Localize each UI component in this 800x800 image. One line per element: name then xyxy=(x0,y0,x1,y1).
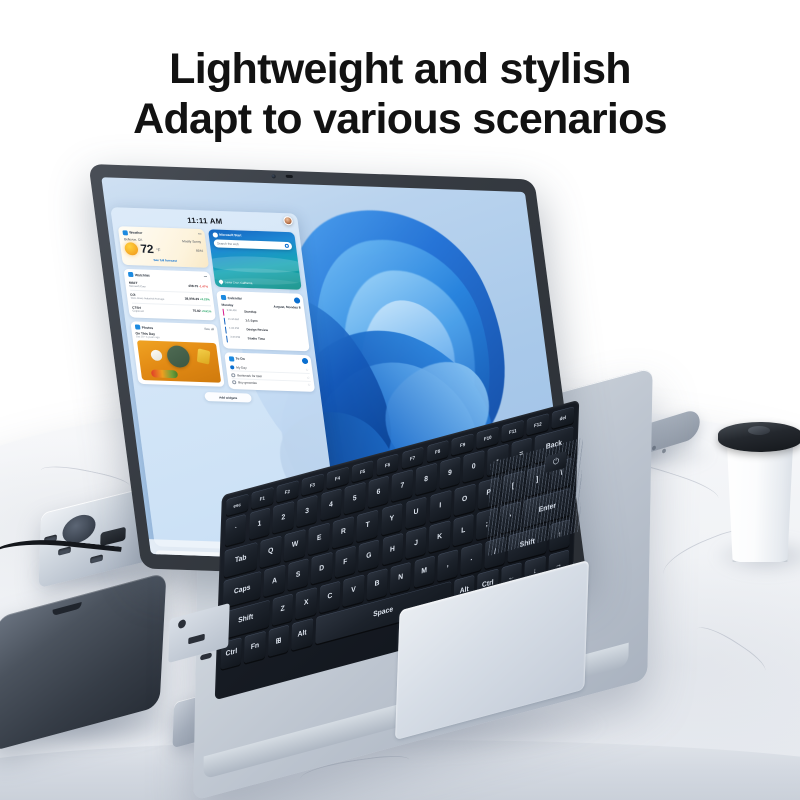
key-d[interactable]: D xyxy=(311,552,332,585)
calendar-day-label: Monday xyxy=(221,302,233,306)
todo-checkbox[interactable] xyxy=(229,365,234,369)
stock-name: Cognizant xyxy=(132,309,144,312)
add-widgets-button[interactable]: Add widgets xyxy=(204,392,252,403)
key-f5[interactable]: F5 xyxy=(351,460,374,483)
key-c[interactable]: C xyxy=(319,580,340,613)
calendar-event[interactable]: 1:00 PM Design Review xyxy=(224,326,304,336)
key-5[interactable]: 5 xyxy=(344,482,366,515)
stock-change: +0.23% xyxy=(200,297,210,301)
microphone-icon xyxy=(286,175,293,178)
key-l[interactable]: L xyxy=(452,514,473,547)
calendar-widget[interactable]: Calendar Monday August, Monday 8 9:00 A xyxy=(216,291,310,351)
key-z[interactable]: Z xyxy=(272,593,293,626)
weather-icon xyxy=(122,230,128,235)
key-u[interactable]: U xyxy=(405,496,427,529)
key-7[interactable]: 7 xyxy=(391,469,413,502)
stock-change: +0.61% xyxy=(201,309,211,313)
key-9[interactable]: 9 xyxy=(439,457,461,490)
watchlist-widget-title: Watchlist xyxy=(135,273,150,277)
todo-item[interactable]: Buy groceries ☆ xyxy=(231,379,311,389)
event-time: 11:30 AM xyxy=(228,318,243,322)
event-title: Standup xyxy=(244,309,257,313)
weather-more-button[interactable]: ••• xyxy=(198,232,202,236)
key-backtick[interactable]: ` xyxy=(225,514,247,547)
event-color-bar xyxy=(224,326,227,333)
weather-condition: Mostly Sunny xyxy=(182,239,201,244)
news-source-icon xyxy=(160,558,163,561)
key-e[interactable]: E xyxy=(308,522,330,555)
microsoft-start-icon xyxy=(212,232,217,237)
key-f12[interactable]: F12 xyxy=(527,413,550,436)
event-time: 9:00 AM xyxy=(227,308,242,312)
key-comma[interactable]: , xyxy=(437,549,458,582)
calendar-account-avatar[interactable] xyxy=(293,297,300,303)
weather-widget[interactable]: Weather ••• Bellevue, CA Mostly Sunny 72 xyxy=(118,226,209,267)
search-brand-label: Microsoft Start xyxy=(219,233,242,238)
todo-widget[interactable]: To Do My Day ☆ xyxy=(224,352,315,392)
todo-widget-title: To Do xyxy=(235,357,245,361)
key-j[interactable]: J xyxy=(405,527,426,560)
key-a[interactable]: A xyxy=(264,565,285,598)
watchlist-widget[interactable]: Watchlist ••• MSFT Microsoft Corp xyxy=(123,268,216,320)
key-f1[interactable]: F1 xyxy=(251,487,274,510)
key-windows[interactable]: ⊞ xyxy=(268,624,289,657)
calendar-event[interactable]: 11:30 AM 1:1 Sync xyxy=(223,317,303,327)
weather-unit: °F xyxy=(156,247,161,252)
key-n[interactable]: N xyxy=(390,561,411,594)
photo-plate-shape xyxy=(165,345,190,368)
stock-name: Dow Jones Industrial Average xyxy=(131,297,165,301)
weather-location: Bellevue, CA xyxy=(124,237,143,242)
key-h[interactable]: H xyxy=(382,533,403,566)
photos-widget[interactable]: Photos See all On This Day Oct 28 • 4 ye… xyxy=(130,321,224,386)
key-2[interactable]: 2 xyxy=(272,501,294,534)
key-t[interactable]: T xyxy=(357,509,379,542)
photo-chip-shape xyxy=(197,348,210,364)
product-marketing-image: Lightweight and stylish Adapt to various… xyxy=(0,0,800,800)
photo-thumbnail[interactable] xyxy=(136,340,220,382)
key-f[interactable]: F xyxy=(335,546,356,579)
photos-widget-title: Photos xyxy=(141,325,153,329)
star-icon[interactable]: ☆ xyxy=(307,383,311,387)
key-f11[interactable]: F11 xyxy=(502,420,525,443)
key-w[interactable]: W xyxy=(284,529,306,562)
key-f7[interactable]: F7 xyxy=(401,447,424,470)
key-8[interactable]: 8 xyxy=(415,463,437,496)
search-widget[interactable]: Microsoft Start Search the web Santa Cru… xyxy=(208,229,302,290)
weather-hi-lo: 82/61 xyxy=(196,248,204,253)
photos-icon xyxy=(134,324,140,329)
news-source-label: MSN Today • 2 hrs ago xyxy=(164,558,189,562)
weather-forecast-link[interactable]: See full forecast xyxy=(125,257,205,264)
calendar-date-label: August, Monday 8 xyxy=(273,304,301,309)
key-alt-left[interactable]: Alt xyxy=(291,618,312,651)
todo-label: My Day xyxy=(236,365,247,369)
key-0[interactable]: 0 xyxy=(463,450,485,483)
headline-line-1: Lightweight and stylish xyxy=(169,45,631,93)
key-f10[interactable]: F10 xyxy=(476,426,499,449)
stock-change: -1.47% xyxy=(199,284,209,288)
search-icon[interactable] xyxy=(285,244,290,248)
star-icon[interactable]: ☆ xyxy=(305,368,309,372)
calendar-widget-title: Calendar xyxy=(227,296,242,300)
todo-checkbox[interactable] xyxy=(230,373,235,377)
star-icon[interactable]: ☆ xyxy=(306,375,310,379)
weather-widget-title: Weather xyxy=(129,231,143,235)
key-r[interactable]: R xyxy=(332,516,354,549)
key-1[interactable]: 1 xyxy=(249,508,271,541)
calendar-event[interactable]: 9:00 AM Standup xyxy=(222,308,302,318)
calendar-icon xyxy=(220,295,226,300)
key-q[interactable]: Q xyxy=(260,535,282,568)
watchlist-more-button[interactable]: ••• xyxy=(203,274,207,278)
stock-price: 38,996.39 xyxy=(184,296,199,300)
todo-label: Bookmark for later xyxy=(237,373,262,378)
todo-account-avatar[interactable] xyxy=(301,358,308,364)
key-fn[interactable]: Fn xyxy=(244,631,265,664)
widgets-grid: Weather ••• Bellevue, CA Mostly Sunny 72 xyxy=(118,226,315,392)
key-b[interactable]: B xyxy=(366,568,387,601)
key-k[interactable]: K xyxy=(429,520,450,553)
key-esc[interactable]: esc xyxy=(226,494,249,517)
location-pin-icon xyxy=(218,280,223,285)
watchlist-row[interactable]: CTSH Cognizant 75.82 +0.61% xyxy=(132,304,212,317)
key-f6[interactable]: F6 xyxy=(376,453,399,476)
weather-temperature: 72 xyxy=(140,243,154,255)
event-color-bar xyxy=(222,308,225,315)
event-color-bar xyxy=(223,317,226,324)
stock-price: 408.75 xyxy=(188,284,198,288)
key-delete[interactable]: del xyxy=(552,406,575,429)
key-g[interactable]: G xyxy=(358,539,379,572)
todo-icon xyxy=(228,356,234,361)
key-o[interactable]: O xyxy=(453,483,475,516)
key-f3[interactable]: F3 xyxy=(301,473,324,496)
weather-body: 72 °F 82/61 xyxy=(123,242,204,258)
search-placeholder: Search the web xyxy=(217,241,239,246)
key-m[interactable]: M xyxy=(413,555,434,588)
search-widget-brand: Microsoft Start xyxy=(212,232,241,237)
event-time: 3:30 PM xyxy=(230,336,245,340)
event-color-bar xyxy=(226,336,229,343)
key-s[interactable]: S xyxy=(287,558,308,591)
key-i[interactable]: I xyxy=(429,490,451,523)
key-f4[interactable]: F4 xyxy=(326,467,349,490)
webcam-icon xyxy=(271,174,276,178)
key-6[interactable]: 6 xyxy=(368,476,390,509)
event-title: Studio Time xyxy=(247,336,265,341)
key-3[interactable]: 3 xyxy=(296,495,318,528)
photos-see-all-link[interactable]: See all xyxy=(204,326,214,330)
headline-line-2: Adapt to various scenarios xyxy=(0,94,800,144)
widgets-column-left: Weather ••• Bellevue, CA Mostly Sunny 72 xyxy=(118,226,225,389)
key-f9[interactable]: F9 xyxy=(451,433,474,456)
stock-name: Microsoft Corp xyxy=(129,284,146,288)
todo-checkbox[interactable] xyxy=(231,380,236,384)
event-title: Design Review xyxy=(246,327,268,332)
key-period[interactable]: . xyxy=(461,542,482,575)
photo-food-shape xyxy=(151,369,178,378)
key-x[interactable]: X xyxy=(296,587,317,620)
sun-icon xyxy=(123,242,138,255)
key-f2[interactable]: F2 xyxy=(276,480,299,503)
event-time: 1:00 PM xyxy=(229,327,244,331)
stock-price: 75.82 xyxy=(192,309,201,313)
key-y[interactable]: Y xyxy=(381,503,403,536)
photo-bowl-shape xyxy=(150,349,163,360)
page-title: Lightweight and stylish Adapt to various… xyxy=(0,44,800,145)
key-v[interactable]: V xyxy=(343,574,364,607)
key-4[interactable]: 4 xyxy=(320,489,342,522)
key-f8[interactable]: F8 xyxy=(426,440,449,463)
todo-label: Buy groceries xyxy=(238,381,257,386)
search-input[interactable]: Search the web xyxy=(213,239,292,250)
chart-icon xyxy=(127,272,133,277)
event-title: 1:1 Sync xyxy=(245,318,258,322)
calendar-event[interactable]: 3:30 PM Studio Time xyxy=(226,336,306,346)
widgets-column-right: Microsoft Start Search the web Santa Cru… xyxy=(208,229,315,392)
